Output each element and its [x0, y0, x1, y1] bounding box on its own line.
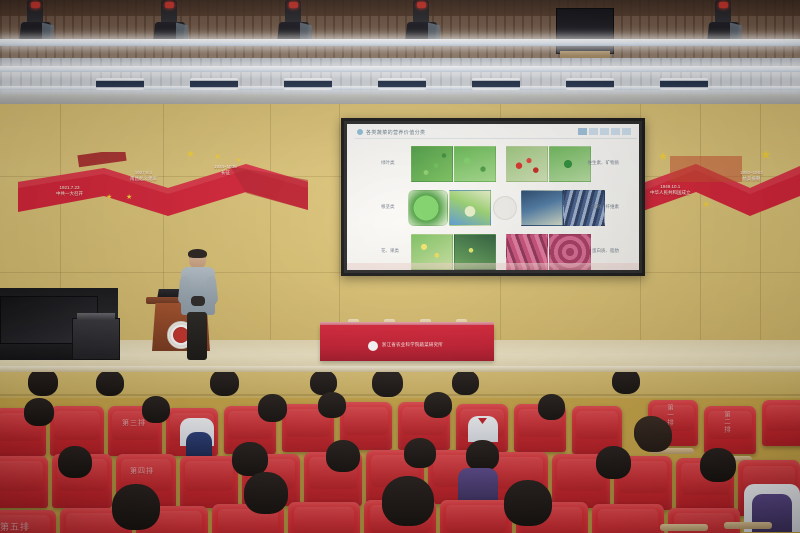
audience-head: [210, 372, 239, 396]
microphone-icon: [191, 296, 205, 306]
audience-head: [538, 394, 565, 420]
seat-armrest: [724, 522, 772, 529]
seat[interactable]: [592, 504, 664, 533]
slide-thumbnail: [521, 190, 563, 226]
timeline-event-left-1: 1921.7.23 中共一大召开: [56, 185, 83, 197]
audience-head: [372, 372, 403, 397]
ceiling-dark-band: [0, 0, 800, 16]
slide-row-label: 维生素、矿物质: [588, 160, 620, 166]
timeline-event-left-3: 1934~1936 长征: [214, 164, 237, 176]
audience-head: [504, 480, 552, 526]
slide-thumbnail: [454, 146, 496, 182]
seat[interactable]: [0, 456, 48, 508]
slide-row-label: 花、果类: [381, 248, 399, 254]
audience-head: [612, 372, 640, 394]
seat-armrest: [660, 524, 708, 531]
av-speaker-cabinet: [72, 318, 120, 360]
table-skirt: 浙江省农业科学院蔬菜研究所: [320, 325, 494, 361]
audience-head: [258, 394, 287, 422]
conference-table: 浙江省农业科学院蔬菜研究所: [320, 321, 494, 361]
slide-row-label: 绿叶类: [381, 160, 395, 166]
slide-thumbnail: [449, 190, 491, 226]
seat[interactable]: [180, 456, 238, 508]
led-strip-light: [0, 39, 800, 46]
seat-row-label: 第五排: [0, 520, 30, 533]
audience-head: [424, 392, 452, 418]
timeline-event-left-2: 1927.8.1 南昌起义建军: [130, 170, 157, 182]
audience-head: [24, 398, 54, 426]
seat[interactable]: 第五排: [0, 510, 56, 533]
bullet-icon: [357, 129, 363, 135]
auditorium-photo: 1921.7.23 中共一大召开 1927.8.1 南昌起义建军 1934~19…: [0, 0, 800, 533]
stage-spotlight-box: [556, 8, 614, 54]
slide-tab-strip: [578, 128, 631, 135]
slide-content: 各类蔬菜的营养价值分类 绿叶类 维生素、矿物质 根茎类: [347, 124, 639, 270]
timeline-event-right-2: 1950~1953 抗美援朝: [740, 170, 763, 182]
audience-head: [326, 440, 360, 472]
student-uniform: [186, 432, 212, 456]
audience-head: [382, 476, 434, 526]
seat[interactable]: 第二排: [704, 406, 756, 454]
audience-head: [28, 372, 58, 396]
timeline-event-right-1: 1949.10.1 中华人民共和国成立: [650, 184, 691, 196]
audience-head: [700, 448, 736, 482]
led-strip-light: [0, 66, 800, 72]
audience-head: [58, 446, 92, 478]
audience-head: [96, 372, 124, 396]
audience-head: [452, 372, 479, 395]
audience-head: [636, 418, 672, 452]
hair: [188, 249, 207, 258]
air-vent: [566, 78, 614, 90]
institute-logo-icon: [368, 341, 378, 351]
seat-row-label: 第三排: [122, 418, 146, 428]
projection-screen: 各类蔬菜的营养价值分类 绿叶类 维生素、矿物质 根茎类: [341, 118, 645, 276]
audience-head: [404, 438, 436, 468]
seat-row-label: 第四排: [130, 466, 154, 476]
slide-row-label: 淀粉、纤维素: [592, 204, 619, 210]
slide-row: 根茎类 淀粉、纤维素: [353, 188, 633, 226]
air-vent: [378, 78, 426, 90]
seat-row-label: 第二排: [722, 411, 729, 434]
slide-title: 各类蔬菜的营养价值分类: [357, 129, 425, 136]
air-vent: [284, 78, 332, 90]
seat[interactable]: [762, 400, 800, 446]
audience-head: [142, 396, 170, 423]
audience-head: [318, 392, 346, 418]
audience-head: [596, 446, 631, 479]
audience-head: [244, 472, 288, 514]
air-vent: [472, 78, 520, 90]
slide-thumbnail: [493, 196, 517, 220]
audience-head: [112, 484, 160, 530]
speaker-person: [178, 250, 218, 362]
seat[interactable]: [440, 500, 512, 533]
slide-thumbnail: [549, 146, 591, 182]
table-banner-text: 浙江省农业科学院蔬菜研究所: [382, 342, 443, 348]
air-vent: [190, 78, 238, 90]
slide-row: 绿叶类 维生素、矿物质: [353, 144, 633, 182]
air-vent: [96, 78, 144, 90]
student-uniform: [458, 468, 498, 502]
air-vent: [660, 78, 708, 90]
timeline-banner-left: 1921.7.23 中共一大召开 1927.8.1 南昌起义建军 1934~19…: [18, 152, 308, 230]
slide-thumbnail: [506, 146, 548, 182]
slide-row-label: 根茎类: [381, 204, 395, 210]
slide-thumbnail: [408, 190, 448, 226]
slide-row-label: 蛋白质、脂肪: [592, 248, 619, 254]
audience-head: [466, 440, 499, 471]
seat[interactable]: [288, 502, 360, 533]
audience-seating: 第一排 第二排 第三排: [0, 372, 800, 533]
timeline-banner-right: 1949.10.1 中华人民共和国成立 1950~1953 抗美援朝 ★ ★ ★: [640, 150, 800, 230]
slide-thumbnail: [411, 146, 453, 182]
audience-head: [232, 442, 268, 476]
